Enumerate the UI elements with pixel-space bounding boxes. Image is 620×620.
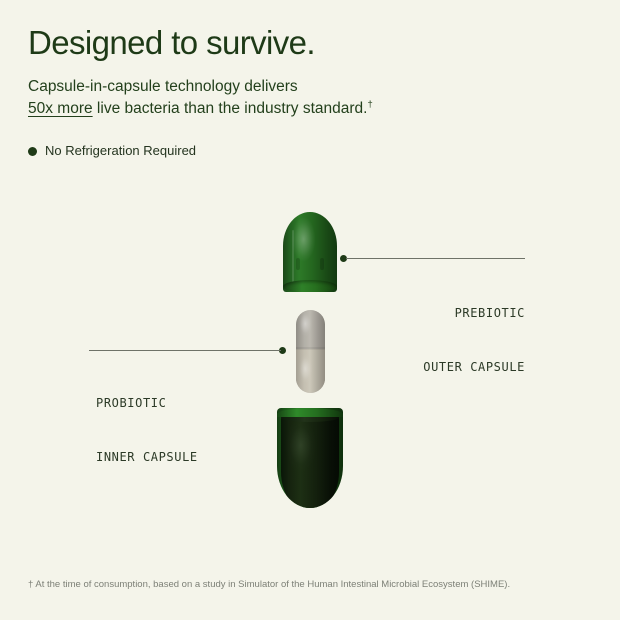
product-feature-card: Designed to survive. Capsule-in-capsule … [0, 0, 620, 620]
capsule-rim [277, 408, 343, 417]
subheadline: Capsule-in-capsule technology delivers 5… [28, 76, 373, 120]
leader-line-prebiotic [346, 258, 525, 259]
feature-bullet-label: No Refrigeration Required [45, 143, 196, 159]
leader-line-probiotic [89, 350, 281, 351]
footnote: † At the time of consumption, based on a… [28, 578, 510, 591]
outer-capsule-body [277, 408, 343, 508]
page-title: Designed to survive. [28, 22, 315, 64]
filled-circle-icon [28, 147, 37, 156]
footnote-marker: † [367, 99, 372, 110]
feature-bullet: No Refrigeration Required [28, 143, 196, 159]
emphasis-50x-more: 50x more [28, 100, 93, 117]
callout-probiotic-line-1: PROBIOTIC [96, 394, 316, 412]
capsule-contents-fill [281, 417, 339, 508]
subheadline-line-2-rest: live bacteria than the industry standard… [93, 100, 368, 117]
subheadline-line-2: 50x more live bacteria than the industry… [28, 98, 373, 120]
inner-capsule [296, 310, 325, 393]
subheadline-line-1: Capsule-in-capsule technology delivers [28, 76, 373, 98]
outer-capsule-cap [283, 212, 337, 292]
callout-prebiotic-line-1: PREBIOTIC [325, 304, 525, 322]
inner-capsule-lower-half [296, 349, 325, 393]
callout-probiotic-line-2: INNER CAPSULE [96, 448, 316, 466]
capsule-groove-left [296, 258, 300, 270]
capsule-groove-right [320, 258, 324, 270]
leader-dot-prebiotic [340, 255, 347, 262]
callout-probiotic-inner-capsule: PROBIOTIC INNER CAPSULE [96, 358, 316, 502]
callout-prebiotic-line-2: OUTER CAPSULE [325, 358, 525, 376]
capsule-highlight-seam [292, 230, 294, 286]
inner-capsule-upper-half [296, 310, 325, 349]
leader-dot-probiotic [279, 347, 286, 354]
callout-prebiotic-outer-capsule: PREBIOTIC OUTER CAPSULE [325, 268, 525, 412]
inner-capsule-seam [296, 347, 325, 350]
